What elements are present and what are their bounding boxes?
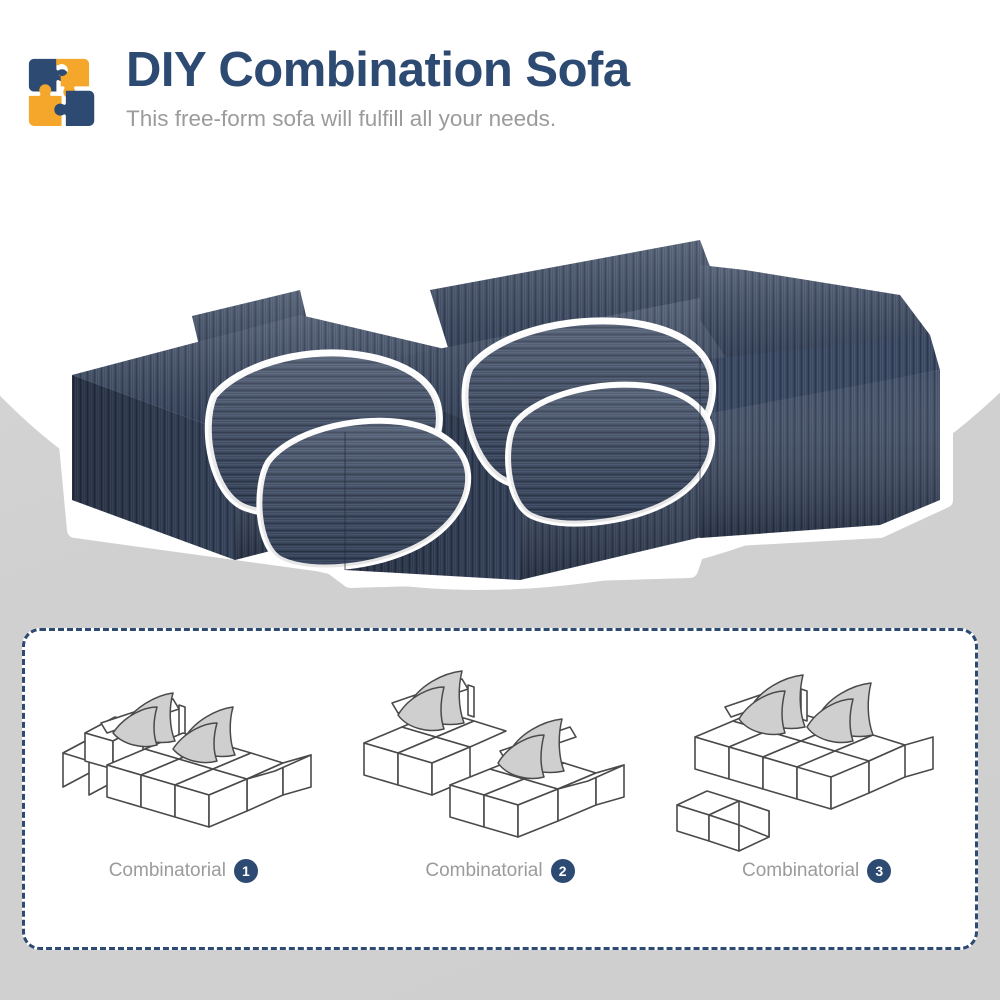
combination-option-3[interactable]: Combinatorial 3: [667, 645, 967, 883]
hero-product-image: [0, 170, 1000, 600]
combination-option-1[interactable]: Combinatorial 1: [33, 645, 333, 883]
combination-label-3: Combinatorial 3: [742, 859, 891, 883]
header: DIY Combination Sofa This free-form sofa…: [22, 46, 922, 166]
combination-label-text: Combinatorial: [425, 860, 542, 882]
puzzle-icon: [22, 52, 108, 138]
combination-option-2[interactable]: Combinatorial 2: [350, 645, 650, 883]
combination-diagram-2: [350, 645, 650, 857]
combinations-panel: Combinatorial 1: [22, 628, 978, 950]
product-infographic-page: DIY Combination Sofa This free-form sofa…: [0, 0, 1000, 1000]
combination-label-2: Combinatorial 2: [425, 859, 574, 883]
combination-label-text: Combinatorial: [109, 860, 226, 882]
combinations-row: Combinatorial 1: [25, 631, 975, 947]
page-subtitle: This free-form sofa will fulfill all you…: [126, 107, 630, 132]
combination-badge: 2: [551, 859, 575, 883]
combination-diagram-1: [33, 645, 333, 857]
page-title: DIY Combination Sofa: [126, 46, 630, 95]
combination-badge: 3: [867, 859, 891, 883]
combination-diagram-3: [667, 645, 967, 857]
combination-badge: 1: [234, 859, 258, 883]
sofa-right-module: [700, 265, 940, 538]
combination-label-1: Combinatorial 1: [109, 859, 258, 883]
header-text-block: DIY Combination Sofa This free-form sofa…: [126, 46, 630, 132]
combination-label-text: Combinatorial: [742, 860, 859, 882]
